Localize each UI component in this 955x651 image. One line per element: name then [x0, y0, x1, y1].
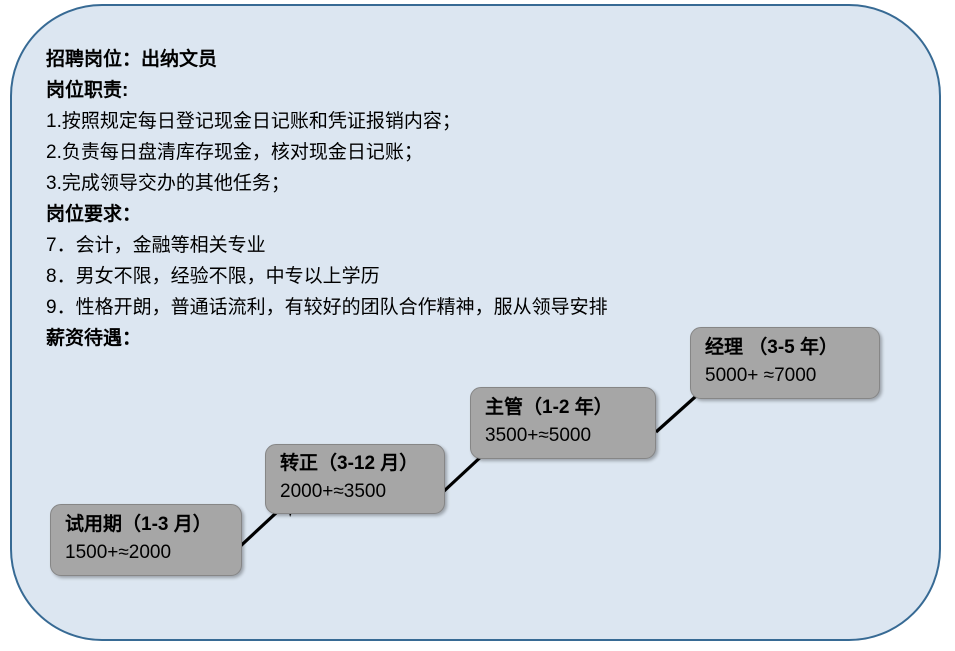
step-salary: 5000+ ≈7000 — [705, 362, 867, 390]
requirements-heading: 岗位要求： — [46, 199, 846, 230]
career-step-box-manager[interactable]: 经理 （3-5 年） 5000+ ≈7000 — [690, 327, 880, 399]
requirement-item-8: 8．男女不限，经验不限，中专以上学历 — [46, 261, 846, 292]
career-step-box-supervisor[interactable]: 主管（1-2 年） 3500+≈5000 — [470, 387, 656, 459]
step-salary: 2000+≈3500 — [280, 478, 432, 506]
duty-item-3: 3.完成领导交办的其他任务； — [46, 168, 846, 199]
career-step-box-probation[interactable]: 试用期（1-3 月） 1500+≈2000 — [50, 504, 242, 576]
duty-item-1: 1.按照规定每日登记现金日记账和凭证报销内容； — [46, 106, 846, 137]
job-posting-text: 招聘岗位：出纳文员 岗位职责: 1.按照规定每日登记现金日记账和凭证报销内容； … — [46, 44, 846, 354]
requirement-item-7: 7．会计，金融等相关专业 — [46, 230, 846, 261]
duty-item-2: 2.负责每日盘清库存现金，核对现金日记账； — [46, 137, 846, 168]
step-title: 试用期（1-3 月） — [65, 511, 229, 539]
duties-heading: 岗位职责: — [46, 75, 846, 106]
requirement-item-9: 9．性格开朗，普通话流利，有较好的团队合作精神，服从领导安排 — [46, 292, 846, 323]
career-step-box-regular[interactable]: 转正（3-12 月） 2000+≈3500 — [265, 444, 445, 514]
slide-canvas: 招聘岗位：出纳文员 岗位职责: 1.按照规定每日登记现金日记账和凭证报销内容； … — [0, 0, 955, 651]
step-title: 主管（1-2 年） — [485, 394, 643, 422]
step-salary: 1500+≈2000 — [65, 539, 229, 567]
posting-title: 招聘岗位：出纳文员 — [46, 44, 846, 75]
step-title: 经理 （3-5 年） — [705, 334, 867, 362]
step-salary: 3500+≈5000 — [485, 422, 643, 450]
step-title: 转正（3-12 月） — [280, 450, 432, 478]
